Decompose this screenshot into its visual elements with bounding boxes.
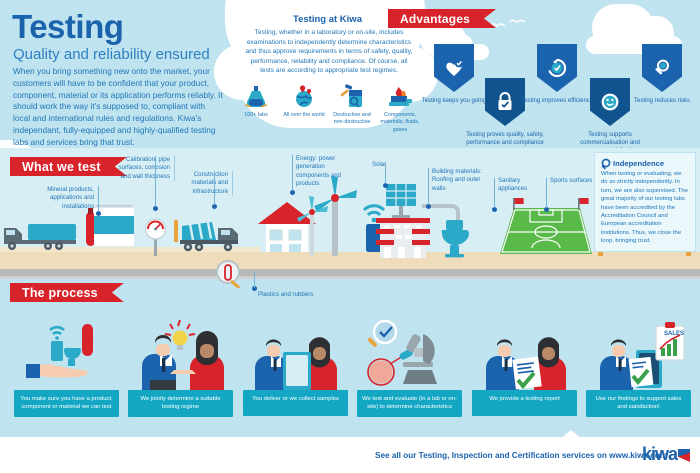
shield-shape	[642, 44, 682, 92]
footer-notch	[560, 430, 582, 439]
birds-icon	[487, 18, 527, 32]
process-caption: We test and evaluate (in a lab or on-sit…	[357, 390, 462, 417]
cloud-icon-row: 100+ labs All over the world	[233, 82, 423, 134]
advantage-label: Testing reduces risks	[623, 97, 700, 105]
lab-flask-icon	[233, 82, 279, 110]
infographic-canvas: Testing Quality and reliability ensured …	[0, 0, 700, 473]
cement-mixer-truck-icon	[168, 216, 248, 258]
handshake-idea-icon	[134, 318, 230, 390]
hand-products-icon	[24, 318, 112, 390]
label-stem	[98, 186, 99, 212]
process-illustration	[243, 318, 348, 390]
cloud-stat-item: Destructive and non-destructive	[329, 82, 375, 134]
label-stem	[428, 168, 429, 205]
process-caption: You deliver or we collect samples	[243, 390, 348, 416]
magnifier-icon	[600, 158, 612, 171]
svg-text:SALES: SALES	[664, 331, 684, 337]
cloud-stat-label: Destructive and non-destructive	[329, 112, 375, 127]
ribbon-notch	[112, 283, 124, 302]
label-stem	[155, 156, 156, 207]
report-handover-icon	[480, 324, 572, 390]
shield-shape	[434, 44, 474, 92]
independence-body: When testing or evaluating, we do so str…	[595, 170, 695, 245]
test-label-plastics: Plastics and rubbers	[258, 291, 328, 299]
heart-check-icon	[443, 57, 465, 79]
advantage-item: Testing reduces risks	[640, 44, 684, 105]
process-caption: You make sure you have a product, compon…	[14, 390, 119, 417]
kiwa-logo-text: kiwa	[642, 444, 677, 464]
globe-pins-icon	[281, 82, 327, 110]
test-label-calibration: Calibration, pipe surfaces, corrosion an…	[108, 156, 170, 181]
kiwa-flag-icon	[678, 449, 690, 462]
kiwa-logo: kiwa	[642, 444, 690, 465]
deliver-sample-icon	[249, 324, 345, 390]
process-step: We provide a testing report	[472, 318, 577, 416]
pressure-gauge-icon	[143, 216, 169, 256]
advantage-label: Testing improves efficiency	[518, 97, 596, 105]
intro-paragraph: When you bring something new onto the ma…	[13, 66, 223, 148]
pipeline	[0, 269, 700, 276]
refresh-check-icon	[546, 57, 568, 79]
test-label-solar: Solar	[372, 161, 402, 169]
test-label-mineral: Mineral products, applications and insta…	[24, 186, 94, 211]
pipe-magnifier-icon	[212, 258, 244, 290]
smiley-icon	[599, 91, 621, 113]
advantages-ribbon: Advantages	[388, 9, 484, 28]
process-caption: We provide a testing report	[472, 390, 577, 416]
burner-flame-icon	[377, 82, 423, 110]
independence-box: Independence When testing or evaluating,…	[594, 152, 696, 252]
test-label-energy: Energy: power generation components and …	[296, 155, 358, 188]
cloud-stat-label: Components, materials, fluids, gases	[377, 112, 423, 134]
process-step: We test and evaluate (in a lab or on-sit…	[357, 318, 462, 417]
cloud-stat-label: All over the world	[281, 112, 327, 119]
advantage-item: Testing proves quality, safety, performa…	[483, 78, 527, 147]
label-stem	[214, 171, 215, 205]
tanker-truck-icon	[2, 216, 82, 256]
cloud-stat-item: All over the world	[281, 82, 327, 134]
padlock-icon	[495, 91, 515, 113]
advantage-item: Testing supports commercialisation and c…	[588, 78, 632, 155]
process-illustration	[14, 318, 119, 390]
advantages-ribbon-label: Advantages	[400, 12, 470, 26]
process-illustration: SALES	[586, 318, 691, 390]
process-illustration	[357, 318, 462, 390]
label-stem	[385, 162, 386, 184]
microscope-icon	[359, 318, 459, 390]
label-stem	[292, 155, 293, 191]
cloud-stat-item: 100+ labs	[233, 82, 279, 134]
process-illustration	[128, 318, 233, 390]
cloud-body-text: Testing, whether in a laboratory or on-s…	[245, 28, 413, 76]
label-stem	[546, 178, 547, 208]
process-step: You make sure you have a product, compon…	[14, 318, 119, 417]
advantage-item: Testing improves efficiency	[535, 44, 579, 105]
process-step: You deliver or we collect samples	[243, 318, 348, 416]
advantage-label: Testing proves quality, safety, performa…	[466, 131, 544, 147]
process-step: We jointly determine a suitable testing …	[128, 318, 233, 417]
magnifier-icon	[651, 57, 673, 79]
footer-text: See all our Testing, Inspection and Cert…	[375, 451, 667, 460]
process-caption: We jointly determine a suitable testing …	[128, 390, 233, 417]
label-stem	[254, 272, 255, 288]
page-title: Testing	[12, 8, 123, 46]
process-caption: Use our findings to support sales and sa…	[586, 390, 691, 417]
what-we-test-ribbon-label: What we test	[22, 160, 101, 174]
label-stem	[494, 178, 495, 208]
cloud-stat-item: Components, materials, fluids, gases	[377, 82, 423, 134]
sales-chart-icon: SALES	[594, 320, 686, 390]
test-label-building: Building materials: Roofing and outer wa…	[432, 168, 494, 193]
pipeline-shadow	[0, 276, 700, 279]
the-process-ribbon: The process	[10, 283, 112, 302]
cloud-stat-label: 100+ labs	[233, 112, 279, 119]
what-we-test-ribbon: What we test	[10, 157, 115, 176]
page-subtitle: Quality and reliability ensured	[13, 46, 210, 63]
advantage-item: Testing keeps you going	[432, 44, 476, 105]
process-step: SALES Use our findings to support sales …	[586, 318, 691, 417]
the-process-ribbon-label: The process	[22, 286, 98, 300]
test-label-sanitary: Sanitary appliances	[498, 177, 542, 194]
hammer-test-icon	[329, 82, 375, 110]
shield-shape	[537, 44, 577, 92]
process-illustration	[472, 318, 577, 390]
test-label-construction: Construction materials and infrastructur…	[168, 171, 228, 196]
advantage-label: Testing keeps you going	[415, 97, 493, 105]
